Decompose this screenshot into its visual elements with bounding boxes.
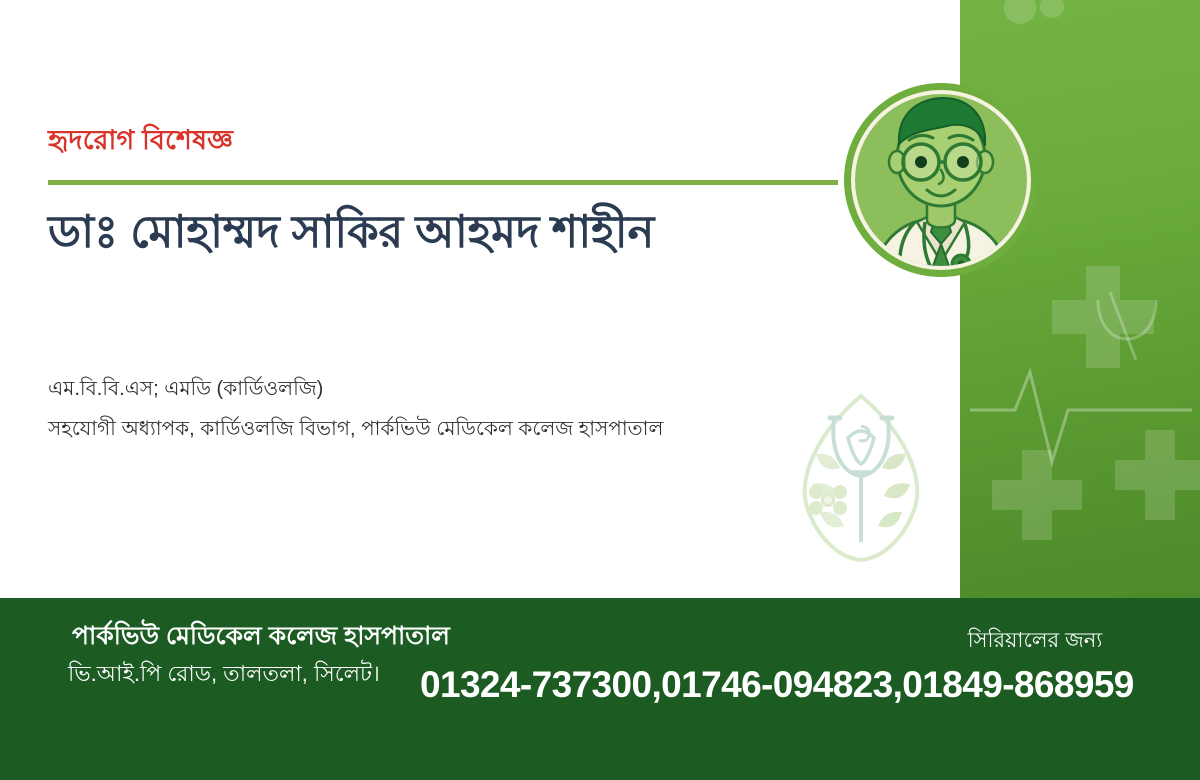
header-divider [48,180,838,185]
medical-leaf-stethoscope-emblem-icon [786,392,936,564]
phone-numbers[interactable]: 01324-737300,01746-094823,01849-868959 [420,664,1134,706]
footer-address: ভি.আই.পি রোড, তালতলা, সিলেট। [68,660,380,689]
footer-hospital-name: পার্কভিউ মেডিকেল কলেজ হাসপাতাল [72,620,450,653]
doctor-name: ডাঃ মোহাম্মদ সাকির আহমদ শাহীন [48,202,778,261]
specialty-title: হৃদরোগ বিশেষজ্ঞ [48,124,233,156]
doctor-avatar-icon [843,66,1039,294]
serial-label: সিরিয়ালের জন্য [900,624,1170,659]
doctor-designation: সহযোগী অধ্যাপক, কার্ডিওলজি বিভাগ, পার্কভ… [48,414,663,445]
doctor-avatar [843,66,1039,294]
business-card: হৃদরোগ বিশেষজ্ঞ ডাঃ মোহাম্মদ সাকির আহমদ … [0,0,1200,780]
doctor-degrees: এম.বি.বি.এস; এমডি (কার্ডিওলজি) [48,374,323,405]
